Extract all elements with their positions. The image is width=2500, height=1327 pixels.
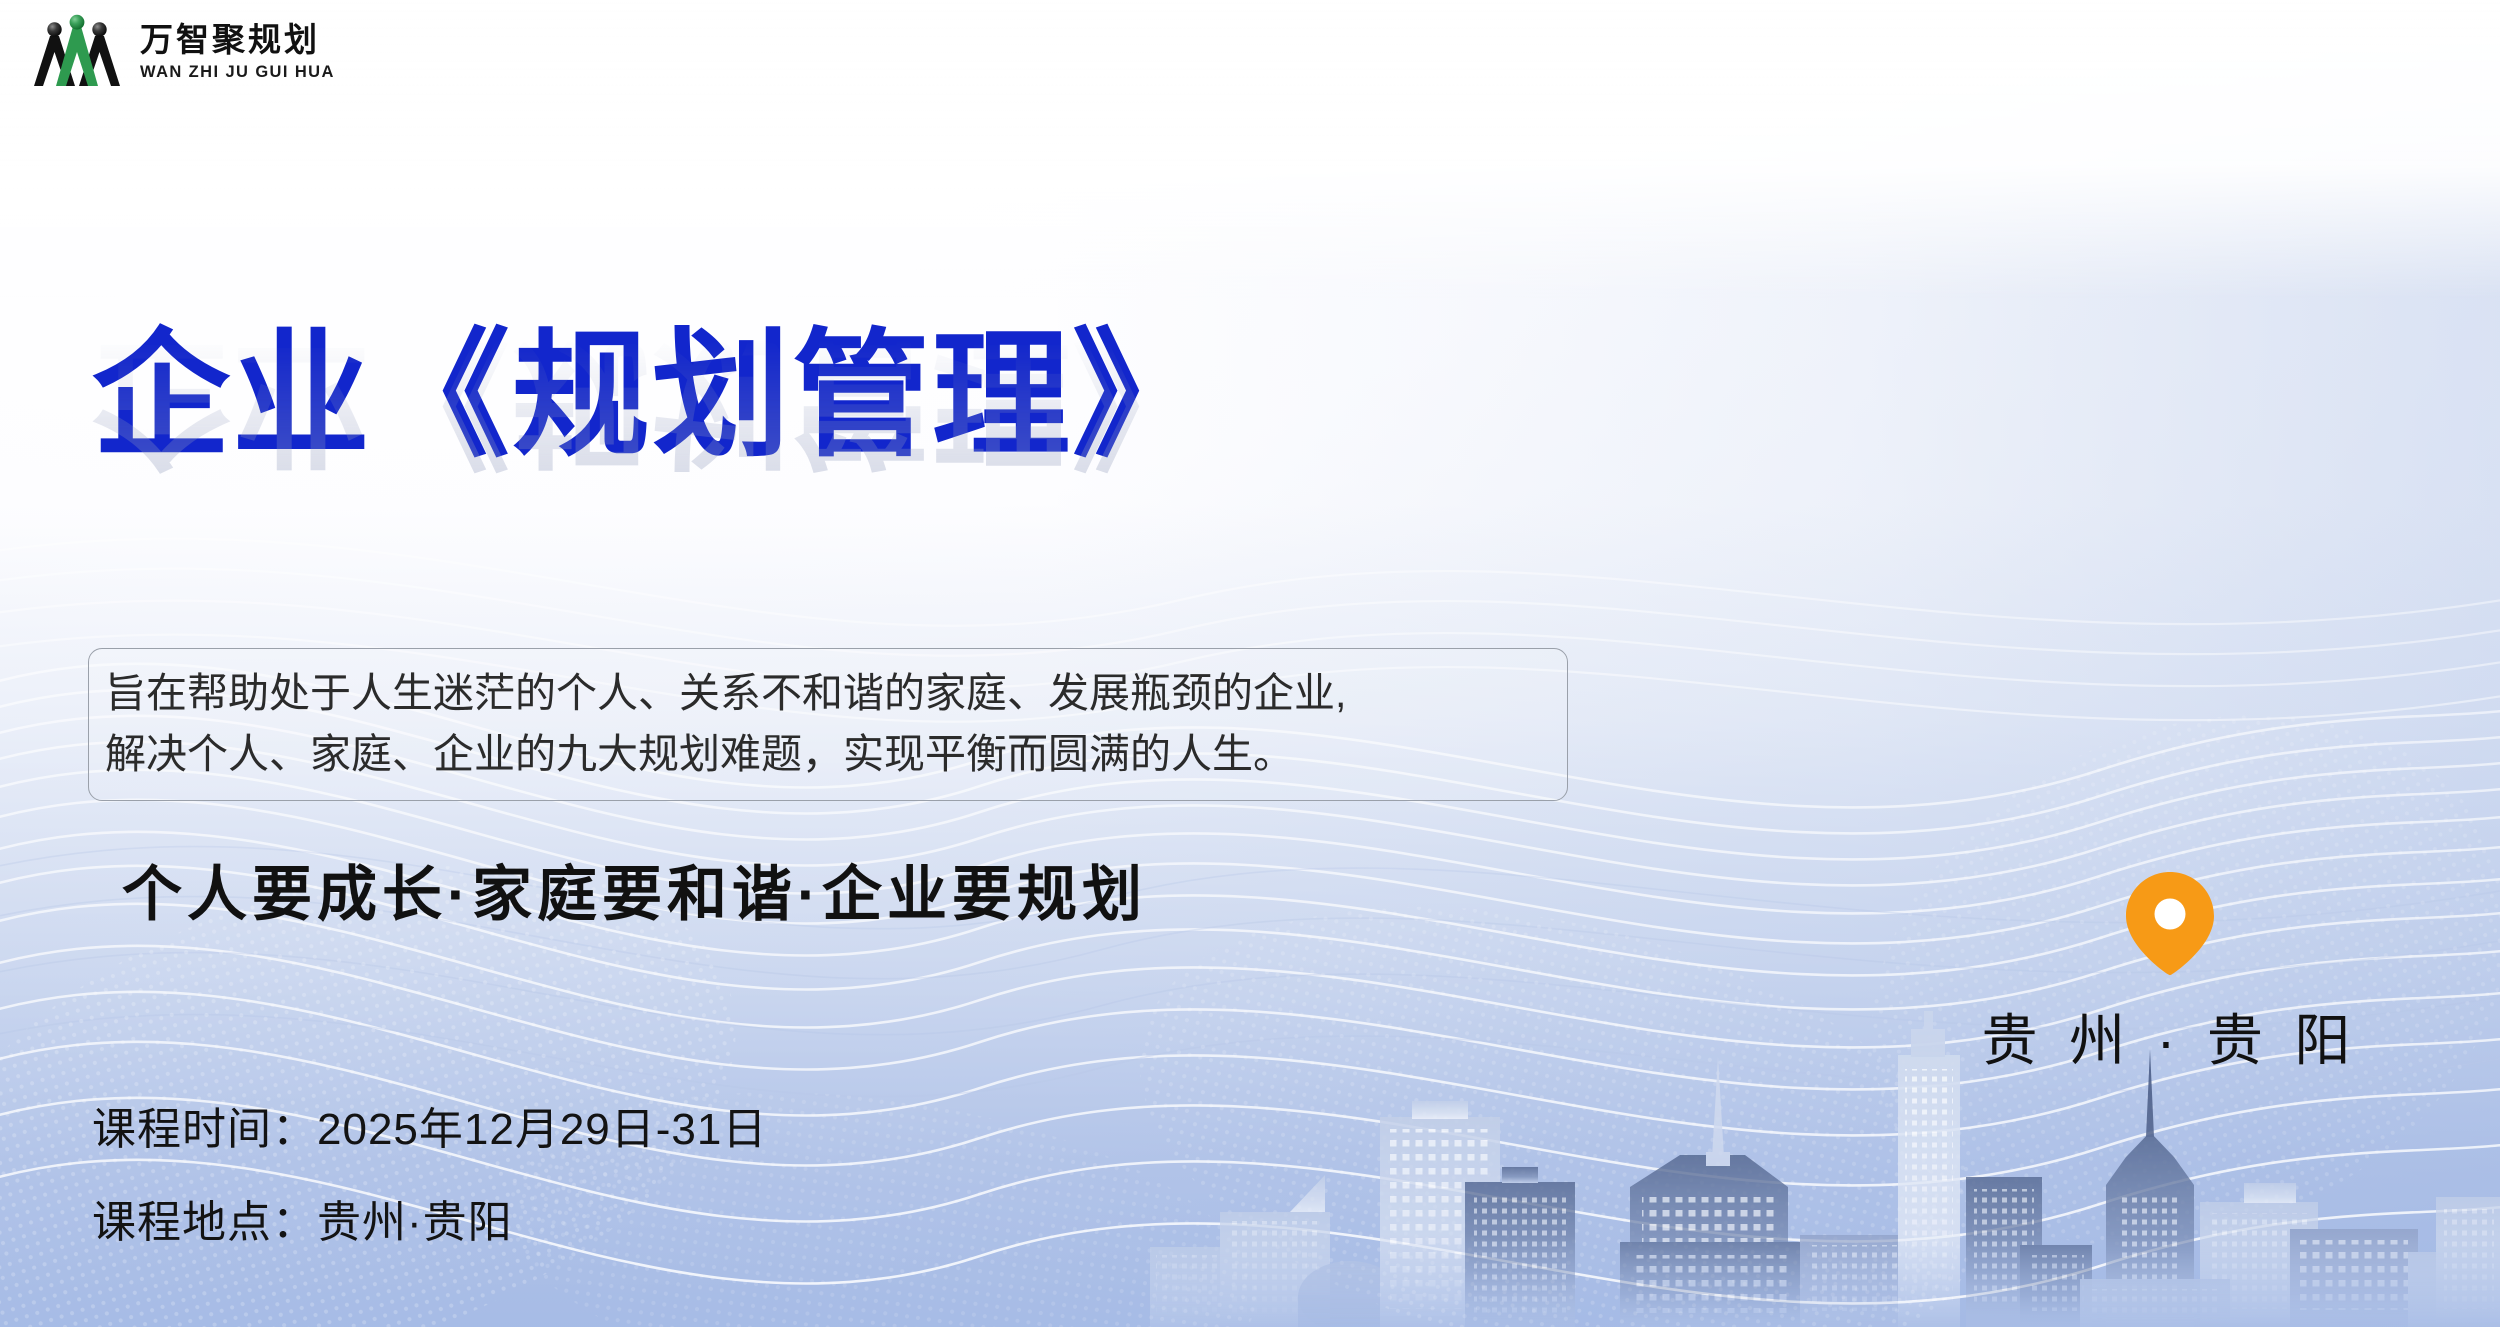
location-text: 贵 州 · 贵 阳 bbox=[1960, 996, 2380, 1077]
brand-logo: 万智聚规划 WAN ZHI JU GUI HUA bbox=[28, 14, 335, 92]
description-line-2: 解决个人、家庭、企业的九大规划难题，实现平衡而圆满的人生。 bbox=[105, 724, 1547, 785]
course-time: 课程时间：2025年12月29日-31日 bbox=[92, 1108, 767, 1152]
description-box: 旨在帮助处于人生迷茫的个人、关系不和谐的家庭、发展瓶颈的企业, 解决个人、家庭、… bbox=[88, 648, 1568, 801]
brand-name-cn: 万智聚规划 bbox=[140, 24, 335, 60]
location-badge: 贵 州 · 贵 阳 bbox=[1960, 870, 2380, 1077]
hero-title-block: 企业《规划管理》 企业《规划管理》 bbox=[92, 322, 1592, 624]
brand-logo-text: 万智聚规划 WAN ZHI JU GUI HUA bbox=[140, 24, 335, 82]
course-info-block: 课程时间：2025年12月29日-31日 课程地点：贵州·贵阳 bbox=[92, 1108, 767, 1245]
description-line-1: 旨在帮助处于人生迷茫的个人、关系不和谐的家庭、发展瓶颈的企业, bbox=[105, 663, 1547, 724]
course-place: 课程地点：贵州·贵阳 bbox=[92, 1201, 767, 1245]
three-people-logo-icon bbox=[28, 14, 126, 92]
page-title: 企业《规划管理》 bbox=[92, 322, 1592, 471]
map-pin-icon bbox=[2123, 870, 2217, 976]
poster-canvas: 万智聚规划 WAN ZHI JU GUI HUA 企业《规划管理》 企业《规划管… bbox=[0, 0, 2500, 1327]
brand-name-pinyin: WAN ZHI JU GUI HUA bbox=[140, 63, 335, 82]
tagline: 个人要成长·家庭要和谐·企业要规划 bbox=[122, 846, 1147, 933]
